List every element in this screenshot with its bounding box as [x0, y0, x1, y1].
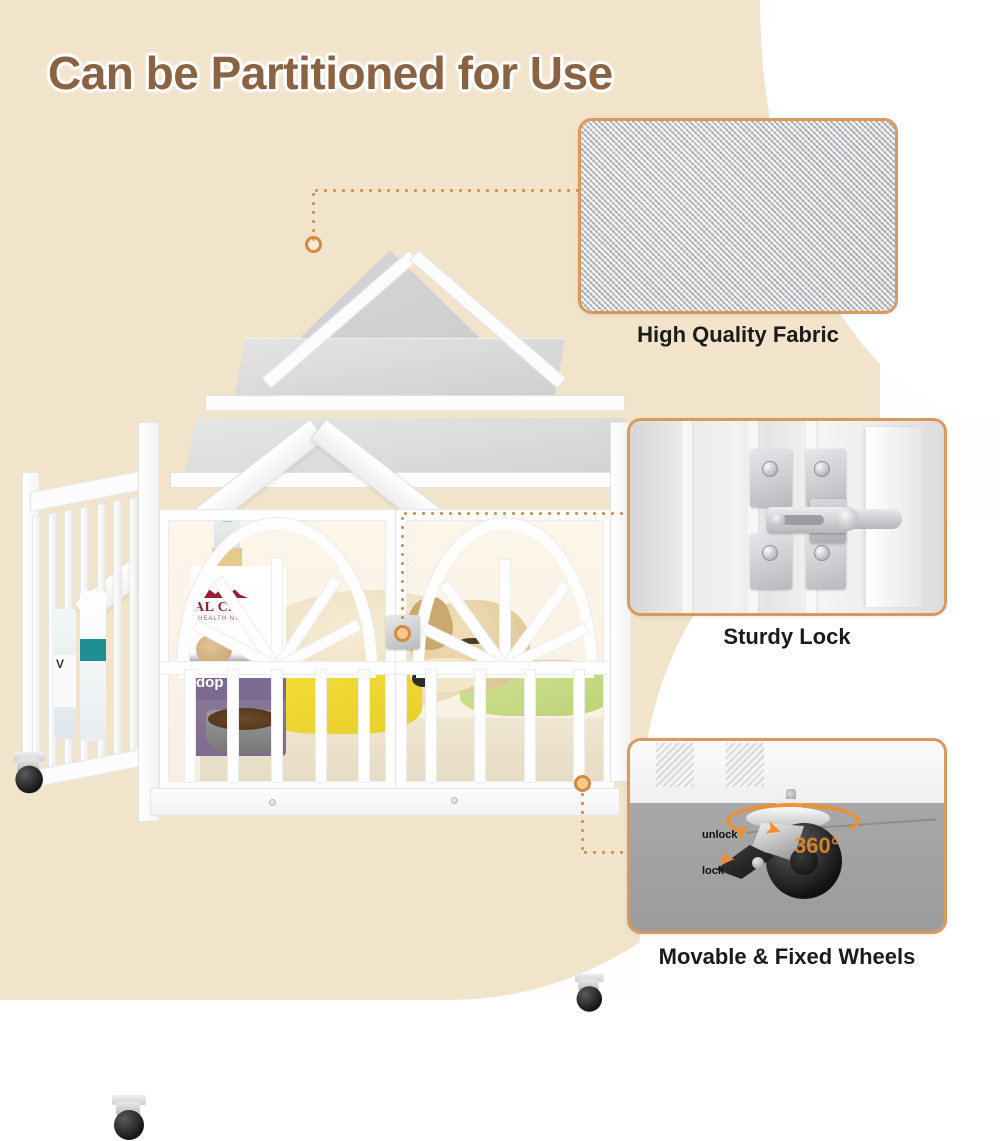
hotspot-lock[interactable]	[394, 625, 411, 642]
vent-panel	[726, 743, 764, 787]
crate-door-right[interactable]	[396, 510, 614, 792]
arch-frame-left	[177, 518, 377, 668]
callout-caption-wheels: Movable & Fixed Wheels	[620, 944, 954, 970]
latch-bolt	[762, 545, 778, 561]
caster-wheel-back-right	[571, 973, 610, 1012]
latch-bolt	[814, 461, 830, 477]
crate-door-left[interactable]	[158, 510, 396, 792]
hotspot-wheels[interactable]	[574, 775, 591, 792]
gable-cross-beam	[205, 395, 625, 411]
callout-card-lock[interactable]	[627, 418, 947, 616]
connector-lock-horizontal	[401, 512, 629, 515]
post-front-left	[138, 422, 160, 822]
latch-pin-head	[838, 507, 858, 531]
label-lock: lock	[702, 865, 724, 877]
callout-caption-fabric: High Quality Fabric	[578, 322, 898, 348]
latch-plate-left-lower	[750, 533, 792, 589]
page-title: Can be Partitioned for Use	[48, 46, 613, 100]
caster-brake-pin	[752, 857, 764, 869]
caster-wheel-front-left	[10, 752, 52, 794]
door-bars-left	[168, 670, 386, 782]
connector-wheels-vertical	[581, 790, 584, 854]
connector-lock-vertical	[401, 514, 404, 636]
side-shelf-bottles: V	[54, 585, 114, 770]
latch-slot	[782, 515, 824, 525]
connector-fabric-horizontal	[312, 189, 580, 192]
latch-plate-left	[750, 449, 792, 507]
bottle-teal	[80, 591, 106, 741]
label-rotation-360: 360°	[794, 833, 840, 859]
callout-caption-lock: Sturdy Lock	[627, 624, 947, 650]
latch-bolt	[814, 545, 830, 561]
arch-frame-right	[413, 518, 597, 668]
door-slat	[682, 421, 692, 613]
callout-card-fabric[interactable]	[578, 118, 898, 314]
caster-wheel-back-left	[108, 1095, 154, 1141]
fabric-swatch-image	[581, 121, 895, 311]
callout-card-wheels[interactable]: ➤ ➤ ➤ unlock lock 360°	[627, 738, 947, 934]
vent-panel	[656, 743, 694, 787]
front-apron	[150, 788, 620, 816]
product-illustration: AL CA HEALTH NUT dop 3 V	[0, 210, 640, 900]
door-bars-right	[406, 670, 604, 782]
label-unlock: unlock	[702, 829, 737, 841]
hotspot-fabric[interactable]	[305, 236, 322, 253]
bottle-teal-band	[80, 639, 106, 661]
latch-bolt	[762, 461, 778, 477]
latch-knob	[771, 513, 785, 527]
connector-wheels-horizontal	[581, 851, 631, 854]
bottle-white-text: V	[56, 657, 64, 671]
